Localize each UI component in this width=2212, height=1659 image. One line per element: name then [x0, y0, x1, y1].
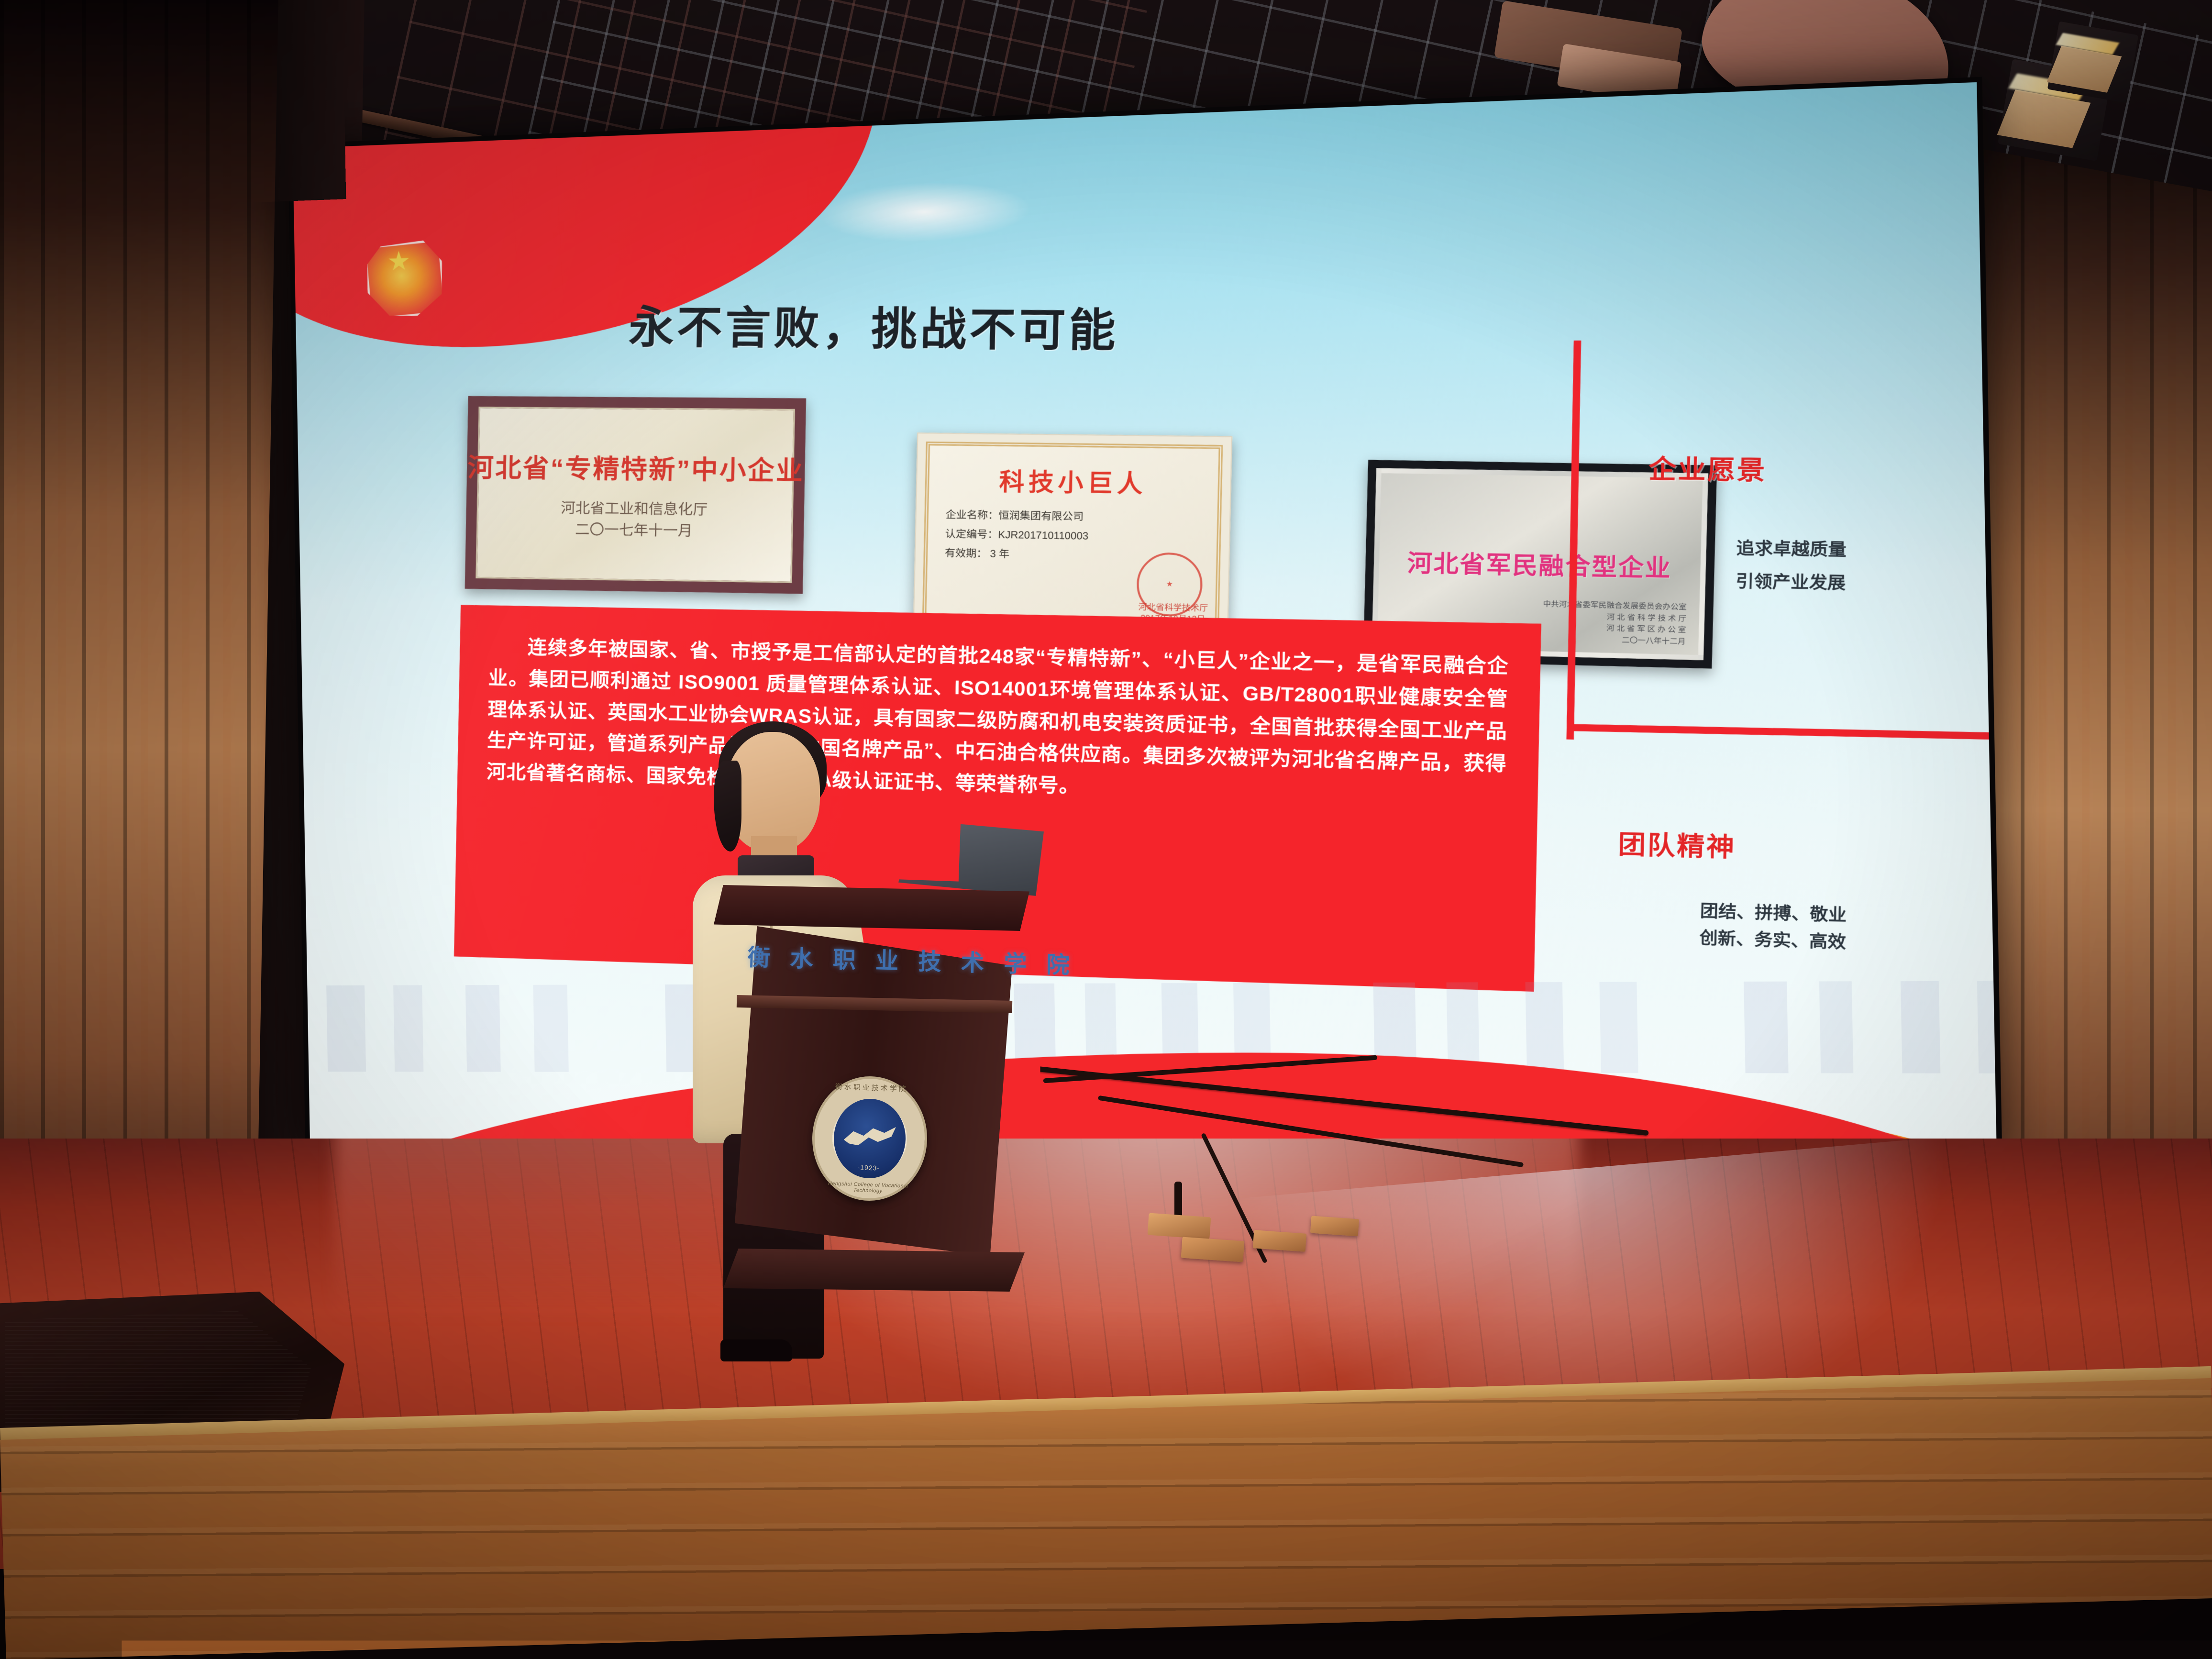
- certificate-title: 河北省“专精特新”中小企业: [467, 446, 805, 488]
- panel-heading-team-spirit: 团队精神: [1618, 823, 1736, 864]
- certificate-date: 二〇一七年十一月: [560, 519, 708, 542]
- seal-bird-icon: [843, 1125, 896, 1152]
- slide-title: 永不言败，挑战不可能: [628, 291, 1119, 359]
- auditorium-stage-photo: 永不言败，挑战不可能 河北省“专精特新”中小企业 河北省工业和信息化厅 二〇一七…: [0, 0, 2212, 1659]
- wood-block: [1181, 1237, 1245, 1262]
- presentation-slide: 永不言败，挑战不可能 河北省“专精特新”中小企业 河北省工业和信息化厅 二〇一七…: [293, 82, 1997, 1150]
- cloud-decoration: [819, 178, 1031, 245]
- seal-year-text: -1923-: [833, 1162, 905, 1172]
- led-screen: 永不言败，挑战不可能 河北省“专精特新”中小企业 河北省工业和信息化厅 二〇一七…: [288, 77, 2002, 1156]
- certificate-title: 科技小巨人: [946, 462, 1201, 501]
- lectern-nameplate-text: 衡 水 职 业 技 术 学 院: [747, 945, 1076, 979]
- stage-spotlight-icon: [2047, 22, 2138, 103]
- certificate-issuer: 河北省工业和信息化厅: [561, 498, 708, 521]
- certificate-title: 河北省军民融合型企业: [1407, 543, 1672, 584]
- divider-rule: [1574, 724, 1997, 741]
- red-banner-tail: [510, 147, 564, 323]
- certificate-plaque: 科技小巨人 企业名称：恒润集团有限公司 认定编号：KJR201710110003…: [913, 432, 1233, 635]
- lectern-top: [714, 885, 1029, 931]
- seal-disc: -1923-: [832, 1097, 907, 1179]
- lectern-nameplate: 衡 水 职 业 技 术 学 院: [747, 939, 996, 989]
- lectern: 衡 水 职 业 技 术 学 院 衡水职业技术学院 -1923- Hengshui…: [714, 885, 1029, 1363]
- team-line: 创新、务实、高效: [1699, 925, 1846, 956]
- wood-block: [1310, 1216, 1359, 1237]
- microphone-stem: [1174, 1182, 1182, 1220]
- vision-line: 追求卓越质量: [1736, 532, 1847, 566]
- vision-line: 引领产业发展: [1736, 565, 1846, 599]
- microphone-base: [1148, 1213, 1211, 1239]
- certificate-seal-issuer: 河北省科学技术厅: [1138, 602, 1208, 614]
- panel-body-vision: 追求卓越质量 引领产业发展: [1736, 532, 1847, 599]
- wood-block: [1253, 1230, 1306, 1252]
- slide-body-text: 连续多年被国家、省、市授予是工信部认定的首批248家“专精特新”、“小巨人”企业…: [486, 631, 1509, 814]
- presenter-hair-side: [714, 761, 741, 852]
- team-line: 团结、拼搏、敬业: [1700, 898, 1847, 929]
- panel-body-team-spirit: 团结、拼搏、敬业 创新、务实、高效: [1699, 898, 1847, 956]
- lectern-base: [723, 1249, 1025, 1292]
- certificate-plaque: 河北省“专精特新”中小企业 河北省工业和信息化厅 二〇一七年十一月: [465, 396, 806, 594]
- panel-heading-vision: 企业愿景: [1648, 448, 1767, 487]
